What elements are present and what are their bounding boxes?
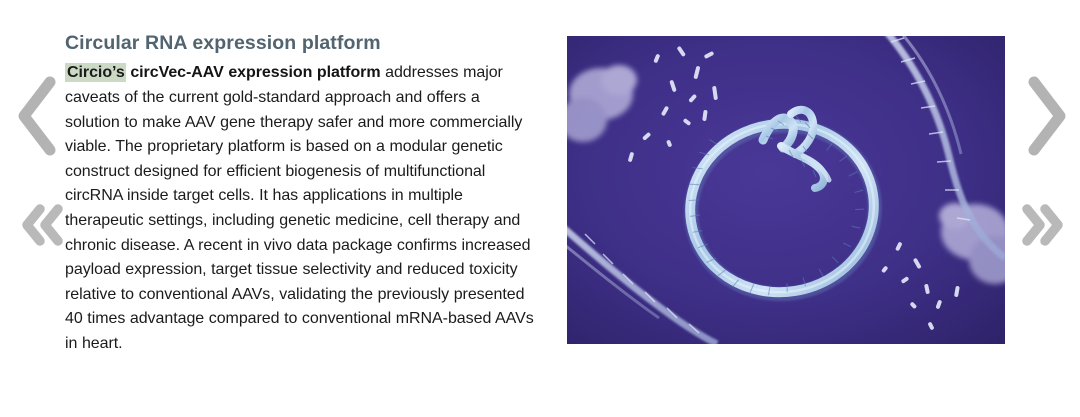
chevron-right-icon xyxy=(1026,74,1070,158)
circular-rna-illustration xyxy=(567,36,1005,344)
carousel-slide: Circular RNA expression platform Circio’… xyxy=(0,0,1080,417)
chevron-double-right-icon xyxy=(1021,202,1065,248)
slide-body-rest: addresses major caveats of the current g… xyxy=(65,64,534,352)
carousel-prev-button[interactable] xyxy=(14,74,58,158)
carousel-first-button[interactable] xyxy=(20,202,64,248)
slide-text-column: Circular RNA expression platform Circio’… xyxy=(65,31,537,357)
company-name-highlight: Circio’s xyxy=(65,63,126,82)
chevron-double-left-icon xyxy=(20,202,64,248)
page-title: Circular RNA expression platform xyxy=(65,31,537,55)
chevron-left-icon xyxy=(14,74,58,158)
platform-name-bold: circVec-AAV expression platform xyxy=(130,64,380,81)
slide-image xyxy=(567,36,1005,344)
carousel-last-button[interactable] xyxy=(1021,202,1065,248)
carousel-next-button[interactable] xyxy=(1026,74,1070,158)
slide-body-text: Circio’s circVec-AAV expression platform… xyxy=(65,61,537,356)
